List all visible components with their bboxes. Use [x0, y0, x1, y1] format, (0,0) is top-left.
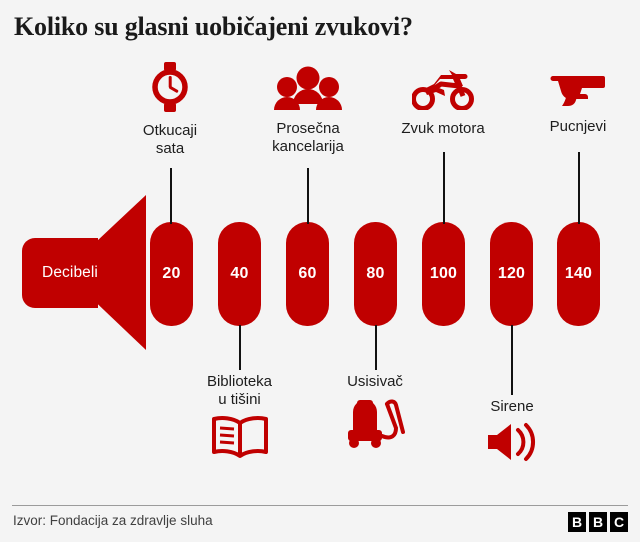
bar-60[interactable]: 60: [286, 222, 329, 326]
callout-vacuum: Usisivač: [325, 373, 425, 459]
connector-line-140: [578, 152, 580, 224]
bar-value-label: 120: [498, 265, 525, 283]
callout-pistol: Pucnjevi: [528, 70, 628, 136]
open-book-icon: [182, 414, 297, 465]
callout-label-line2: u tišini: [182, 391, 297, 409]
bar-20[interactable]: 20: [150, 222, 193, 326]
callout-siren: Sirene: [464, 398, 560, 468]
bar-value-label: 40: [230, 265, 248, 283]
callout-label: Sirene: [464, 398, 560, 416]
source-text: Izvor: Fondacija za zdravlje sluha: [13, 513, 213, 528]
bar-40[interactable]: 40: [218, 222, 261, 326]
connector-line-80: [375, 325, 377, 370]
connector-line-100: [443, 152, 445, 224]
bar-value-label: 100: [430, 265, 457, 283]
pistol-icon: [528, 70, 628, 113]
bar-value-label: 140: [565, 265, 592, 283]
bbc-logo-letter-b1: B: [568, 512, 586, 532]
bar-100[interactable]: 100: [422, 222, 465, 326]
bar-value-label: 80: [366, 265, 384, 283]
callout-label-line1: Biblioteka: [182, 373, 297, 391]
connector-line-120: [511, 325, 513, 395]
footer-divider: [12, 505, 628, 506]
bbc-logo-letter-c: C: [610, 512, 628, 532]
callout-label: Usisivač: [325, 373, 425, 391]
callout-label-line2: sata: [120, 140, 220, 158]
callout-label: Zvuk motora: [383, 120, 503, 138]
motorcycle-icon: [383, 70, 503, 115]
callout-label-line2: kancelarija: [252, 138, 364, 156]
connector-line-40: [239, 325, 241, 370]
callout-label: Pucnjevi: [528, 118, 628, 136]
decibel-speaker-graphic: Decibeli: [16, 195, 146, 350]
infographic-root: Koliko su glasni uobičajeni zvukovi? Dec…: [0, 0, 640, 542]
callout-label-line1: Prosečna: [252, 120, 364, 138]
bar-80[interactable]: 80: [354, 222, 397, 326]
bar-value-label: 60: [298, 265, 316, 283]
bbc-logo-letter-b2: B: [589, 512, 607, 532]
bbc-logo: B B C: [568, 512, 628, 532]
connector-line-20: [170, 168, 172, 224]
people-icon: [252, 66, 364, 115]
callout-motorcycle: Zvuk motora: [383, 70, 503, 138]
bar-120[interactable]: 120: [490, 222, 533, 326]
callout-label-line1: Otkucaji: [120, 122, 220, 140]
decibel-axis-label: Decibeli: [22, 238, 118, 308]
connector-line-60: [307, 168, 309, 224]
vacuum-icon: [325, 396, 425, 459]
callout-watch: Otkucaji sata: [120, 62, 220, 158]
page-title: Koliko su glasni uobičajeni zvukovi?: [14, 12, 624, 42]
speaker-waves-icon: [464, 421, 560, 468]
watch-icon: [120, 62, 220, 117]
callout-book: Biblioteka u tišini: [182, 373, 297, 465]
bar-140[interactable]: 140: [557, 222, 600, 326]
callout-people: Prosečna kancelarija: [252, 66, 364, 156]
bar-value-label: 20: [162, 265, 180, 283]
